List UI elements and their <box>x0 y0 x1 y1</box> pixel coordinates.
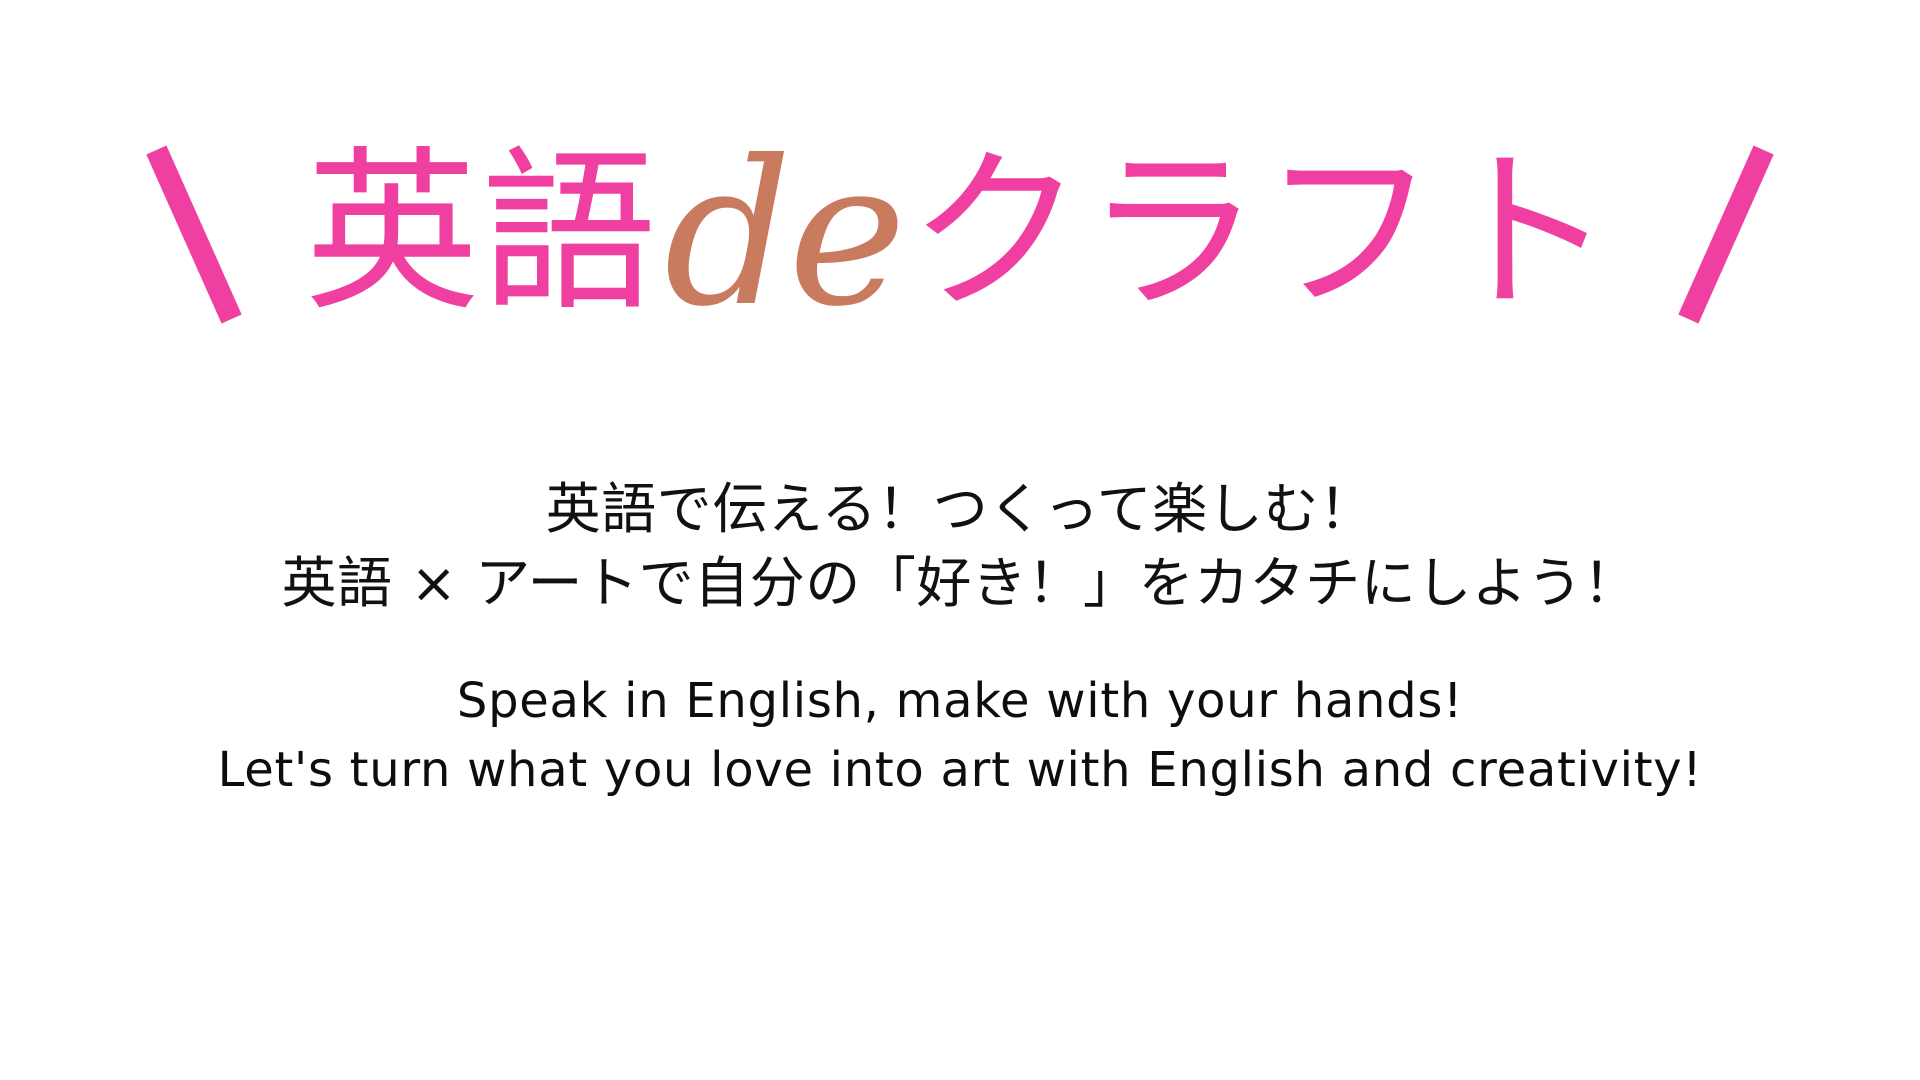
japanese-subtitle-line-1: 英語で伝える！つくって楽しむ！ <box>281 472 1638 546</box>
right-slash-decoration <box>1661 142 1791 327</box>
english-subtitle-line-2: Let's turn what you love into art with E… <box>218 736 1703 806</box>
banner-root: 英語deクラフト 英語で伝える！つくって楽しむ！ 英語 × アートで自分の「好き… <box>0 0 1920 1080</box>
title-part-script-de: de <box>658 118 908 351</box>
left-slash-decoration <box>129 142 259 327</box>
japanese-subtitle-block: 英語で伝える！つくって楽しむ！ 英語 × アートで自分の「好き！」をカタチにしよ… <box>281 472 1638 621</box>
title-part-katakana-kurafuto: クラフト <box>908 132 1615 335</box>
japanese-subtitle-line-2: 英語 × アートで自分の「好き！」をカタチにしよう！ <box>281 546 1638 620</box>
english-subtitle-line-1: Speak in English, make with your hands! <box>218 667 1703 737</box>
title-part-japanese-eigo: 英語 <box>305 132 659 335</box>
page-title: 英語deクラフト <box>305 125 1616 325</box>
english-subtitle-block: Speak in English, make with your hands! … <box>218 667 1703 806</box>
title-row: 英語deクラフト <box>0 80 1920 370</box>
